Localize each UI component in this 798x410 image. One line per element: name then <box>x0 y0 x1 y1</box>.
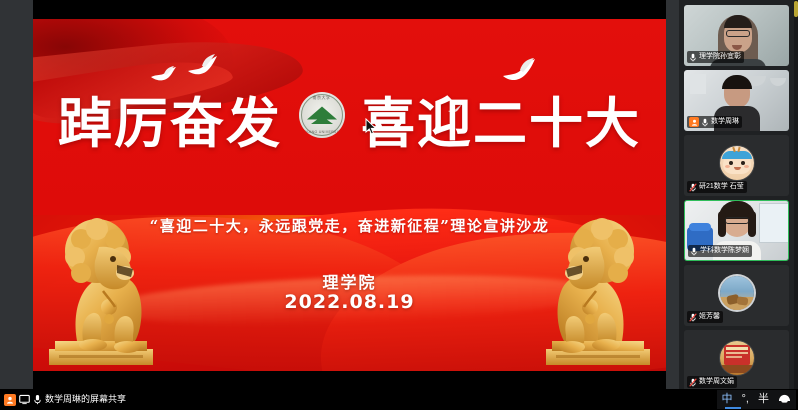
slide-subtitle: “喜迎二十大，永远跟党走，奋进新征程”理论宣讲沙龙 <box>33 215 666 236</box>
letterbox-left <box>0 0 33 389</box>
letterbox-right <box>666 0 679 389</box>
emblem-bottom-text: NANJING UNIVERSITY <box>299 130 345 134</box>
host-badge-icon <box>4 394 16 406</box>
participant-tile[interactable]: 学科数学陈梦娴 <box>684 200 789 261</box>
participant-tile[interactable]: 数学周琳 <box>684 70 789 131</box>
slide-artwork: 踔厉奋发 南京大学 NANJING UNIVERSITY 喜迎二十大 “喜迎二十… <box>33 19 666 371</box>
participant-sidebar[interactable]: 理学院孙宜彰 数学周琳 <box>679 0 798 389</box>
university-emblem-icon: 南京大学 NANJING UNIVERSITY <box>299 92 345 138</box>
sidebar-scrollbar-track[interactable] <box>794 0 798 389</box>
ime-status-bar[interactable]: 中 °, 半 <box>717 390 796 409</box>
mic-muted-icon <box>689 313 697 322</box>
participant-tile[interactable]: 数学周文娟 <box>684 330 789 391</box>
screen-share-label: 数学周琳的屏幕共享 <box>45 392 126 407</box>
participant-name: 学科数学陈梦娴 <box>700 245 749 257</box>
sidebar-scrollbar-thumb[interactable] <box>794 1 798 17</box>
screen-share-icon <box>19 394 30 405</box>
avatar <box>720 276 754 310</box>
taskbar: 数学周琳的屏幕共享 中 °, 半 <box>0 389 798 410</box>
screen-share-indicator[interactable]: 数学周琳的屏幕共享 <box>4 392 126 407</box>
participant-name: 研21数学 石莹 <box>699 181 744 193</box>
dove-icon-2 <box>185 53 219 79</box>
slide-title-row: 踔厉奋发 南京大学 NANJING UNIVERSITY 喜迎二十大 <box>33 79 666 158</box>
presentation-slide: 踔厉奋发 南京大学 NANJING UNIVERSITY 喜迎二十大 “喜迎二十… <box>33 0 666 389</box>
ime-active-underline <box>725 407 741 409</box>
mic-muted-icon <box>689 183 697 192</box>
ime-width-mode[interactable]: 半 <box>758 390 769 409</box>
ime-punctuation-mode[interactable]: °, <box>742 390 749 409</box>
participant-name: 数学周琳 <box>711 116 739 128</box>
mic-on-icon <box>690 247 698 256</box>
slide-date: 2022.08.19 <box>33 291 666 313</box>
participant-tile[interactable]: 理学院孙宜彰 <box>684 5 789 66</box>
slide-title-right: 喜迎二十大 <box>361 79 641 158</box>
participant-namebar: 数学周文娟 <box>687 376 737 388</box>
participant-name: 理学院孙宜彰 <box>699 51 741 63</box>
participant-namebar: 数学周琳 <box>687 116 742 128</box>
mic-on-icon <box>701 118 709 127</box>
meeting-window: 踔厉奋发 南京大学 NANJING UNIVERSITY 喜迎二十大 “喜迎二十… <box>0 0 798 410</box>
slide-organization: 理学院 <box>33 269 666 293</box>
mouse-cursor-icon <box>365 118 377 136</box>
participant-name: 数学周文娟 <box>699 376 734 388</box>
participant-namebar: 理学院孙宜彰 <box>687 51 744 63</box>
participant-name: 姬芳馨 <box>699 311 720 323</box>
participant-namebar: 姬芳馨 <box>687 311 723 323</box>
avatar <box>720 146 754 180</box>
ime-hat-icon[interactable] <box>778 394 791 406</box>
participant-namebar: 研21数学 石莹 <box>687 181 747 193</box>
mic-on-icon <box>689 53 697 62</box>
shared-screen-stage[interactable]: 踔厉奋发 南京大学 NANJING UNIVERSITY 喜迎二十大 “喜迎二十… <box>0 0 679 389</box>
participant-tile[interactable]: 姬芳馨 <box>684 265 789 326</box>
avatar <box>720 341 754 375</box>
mic-muted-icon <box>689 378 697 387</box>
participant-namebar: 学科数学陈梦娴 <box>688 245 752 257</box>
participant-tile[interactable]: 研21数学 石莹 <box>684 135 789 196</box>
mic-on-icon <box>33 394 42 405</box>
slide-title-left: 踔厉奋发 <box>58 79 282 158</box>
host-badge-icon <box>689 117 699 127</box>
emblem-top-text: 南京大学 <box>299 95 345 101</box>
